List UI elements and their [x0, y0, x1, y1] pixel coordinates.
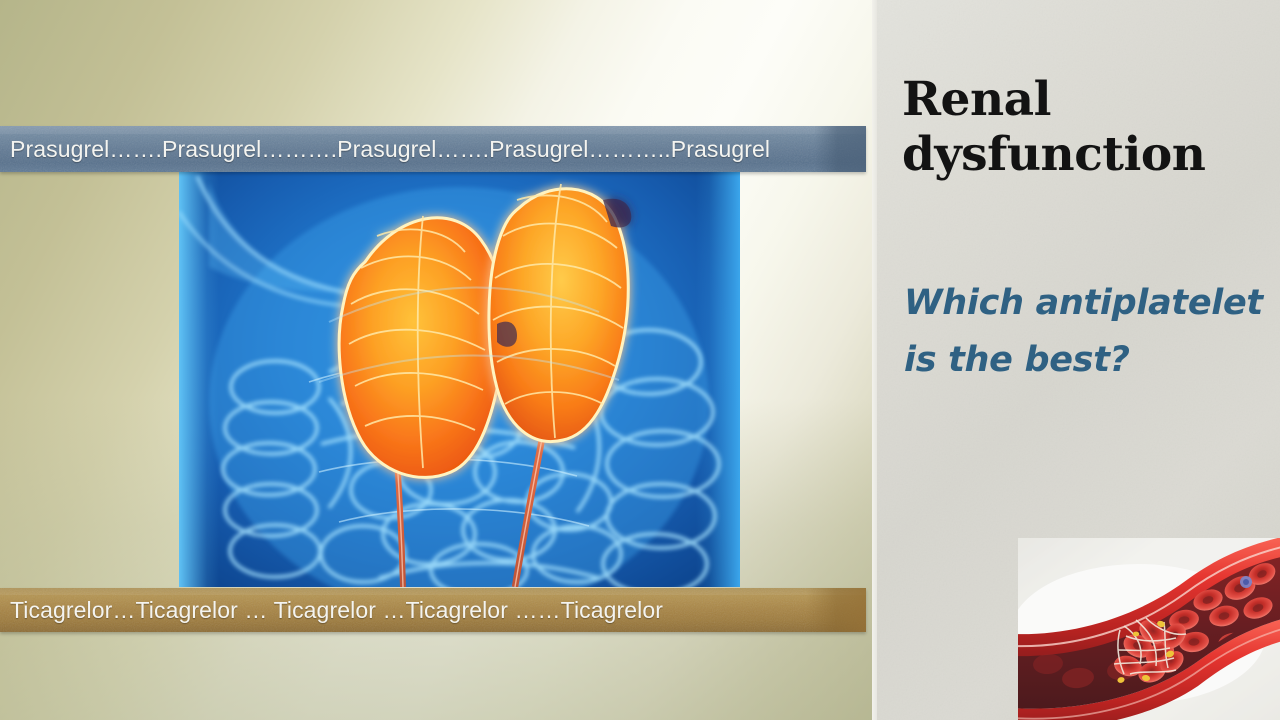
ticagrelor-banner-label: Ticagrelor…Ticagrelor … Ticagrelor …Tica…	[0, 599, 663, 622]
page-title: Renal dysfunction	[902, 72, 1262, 183]
prasugrel-banner-label: Prasugrel…….Prasugrel……….Prasugrel…….Pra…	[0, 138, 770, 161]
banner-right-cap	[806, 588, 866, 632]
kidney-illustration-svg	[179, 172, 740, 587]
blood-vessel-image	[1018, 538, 1280, 720]
ticagrelor-banner: Ticagrelor…Ticagrelor … Ticagrelor …Tica…	[0, 588, 866, 632]
banner-right-cap	[814, 126, 866, 172]
presentation-slide: Prasugrel…….Prasugrel……….Prasugrel…….Pra…	[0, 0, 1280, 720]
panel-question-text: Which antiplatelet is the best?	[904, 275, 1264, 388]
prasugrel-banner: Prasugrel…….Prasugrel……….Prasugrel…….Pra…	[0, 126, 866, 172]
vessel-illustration-svg	[1018, 538, 1280, 720]
panel-edge-highlight	[872, 0, 877, 720]
kidney-anatomy-image	[179, 172, 740, 587]
